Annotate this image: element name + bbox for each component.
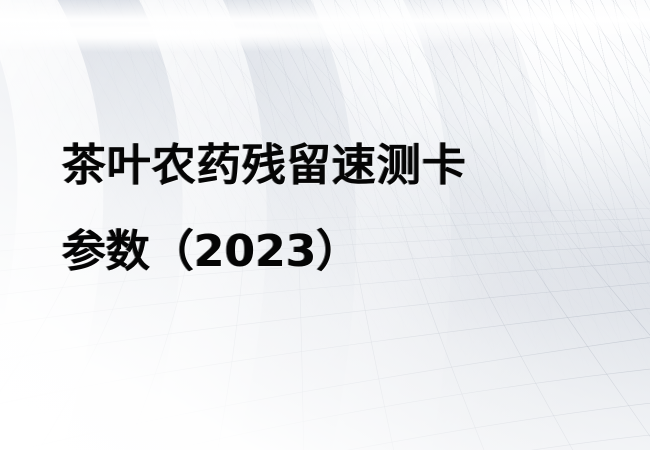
title-line-primary: 茶叶农药残留速测卡 xyxy=(62,140,622,192)
background-light-streak xyxy=(0,0,650,66)
page-title: 茶叶农药残留速测卡 参数（2023） xyxy=(62,140,622,278)
title-banner: 茶叶农药残留速测卡 参数（2023） xyxy=(0,0,650,450)
title-line-secondary: 参数（2023） xyxy=(62,226,622,278)
background-light-streak-core xyxy=(0,0,650,40)
